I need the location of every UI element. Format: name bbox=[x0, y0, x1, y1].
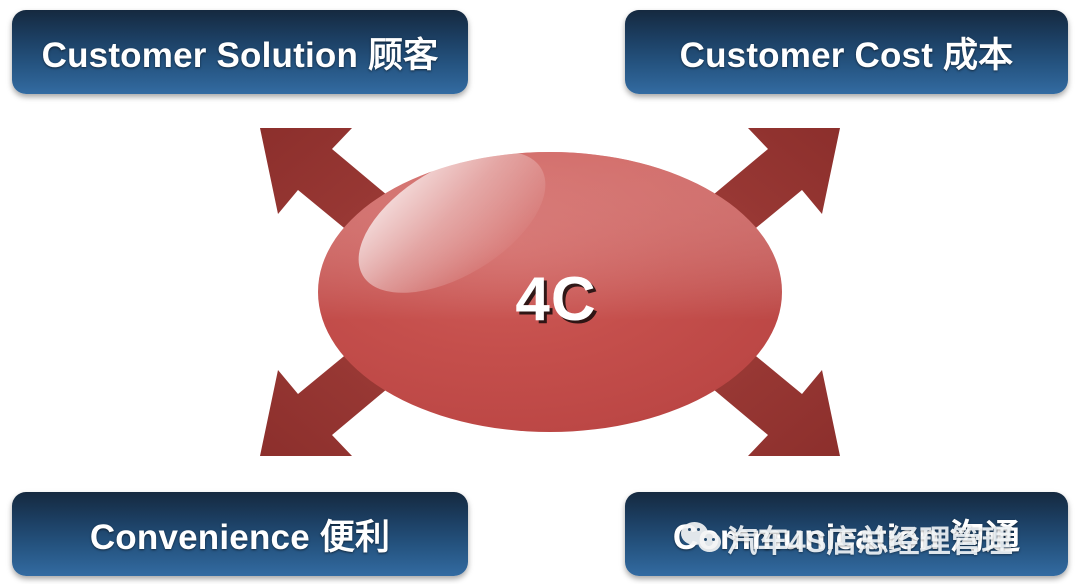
corner-box-communication[interactable]: Communication 沟通 汽车4S店总经理管理 bbox=[625, 492, 1068, 576]
corner-box-customer-cost[interactable]: Customer Cost 成本 bbox=[625, 10, 1068, 94]
corner-box-customer-solution[interactable]: Customer Solution 顾客 bbox=[12, 10, 468, 94]
corner-box-label: Customer Solution 顾客 bbox=[42, 27, 439, 78]
center-diagram: 4C bbox=[240, 118, 860, 466]
slide-canvas: Customer Solution 顾客 Customer Cost 成本 Co… bbox=[0, 0, 1080, 584]
center-ellipse bbox=[318, 122, 782, 432]
corner-box-label: Customer Cost 成本 bbox=[680, 27, 1014, 78]
corner-box-label: Convenience 便利 bbox=[90, 509, 390, 560]
corner-box-convenience[interactable]: Convenience 便利 bbox=[12, 492, 468, 576]
corner-box-label: Communication 沟通 bbox=[673, 509, 1020, 560]
